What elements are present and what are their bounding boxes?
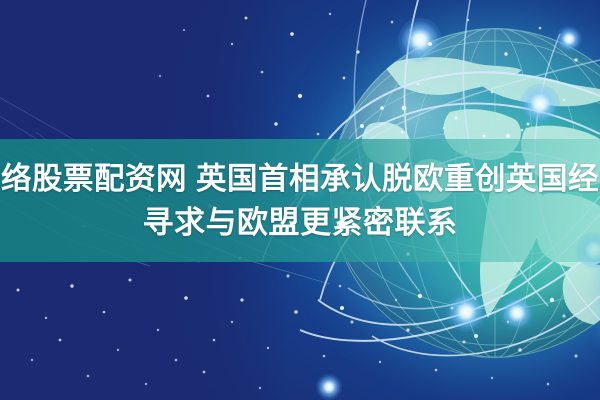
news-banner-image: 网络股票配资网 英国首相承认脱欧重创英国经济 寻求与欧盟更紧密联系 bbox=[0, 0, 600, 400]
headline-line-1: 网络股票配资网 英国首相承认脱欧重创英国经济 bbox=[0, 159, 600, 199]
headline-text-block: 网络股票配资网 英国首相承认脱欧重创英国经济 寻求与欧盟更紧密联系 bbox=[0, 139, 600, 262]
headline-line-2: 寻求与欧盟更紧密联系 bbox=[143, 203, 458, 243]
